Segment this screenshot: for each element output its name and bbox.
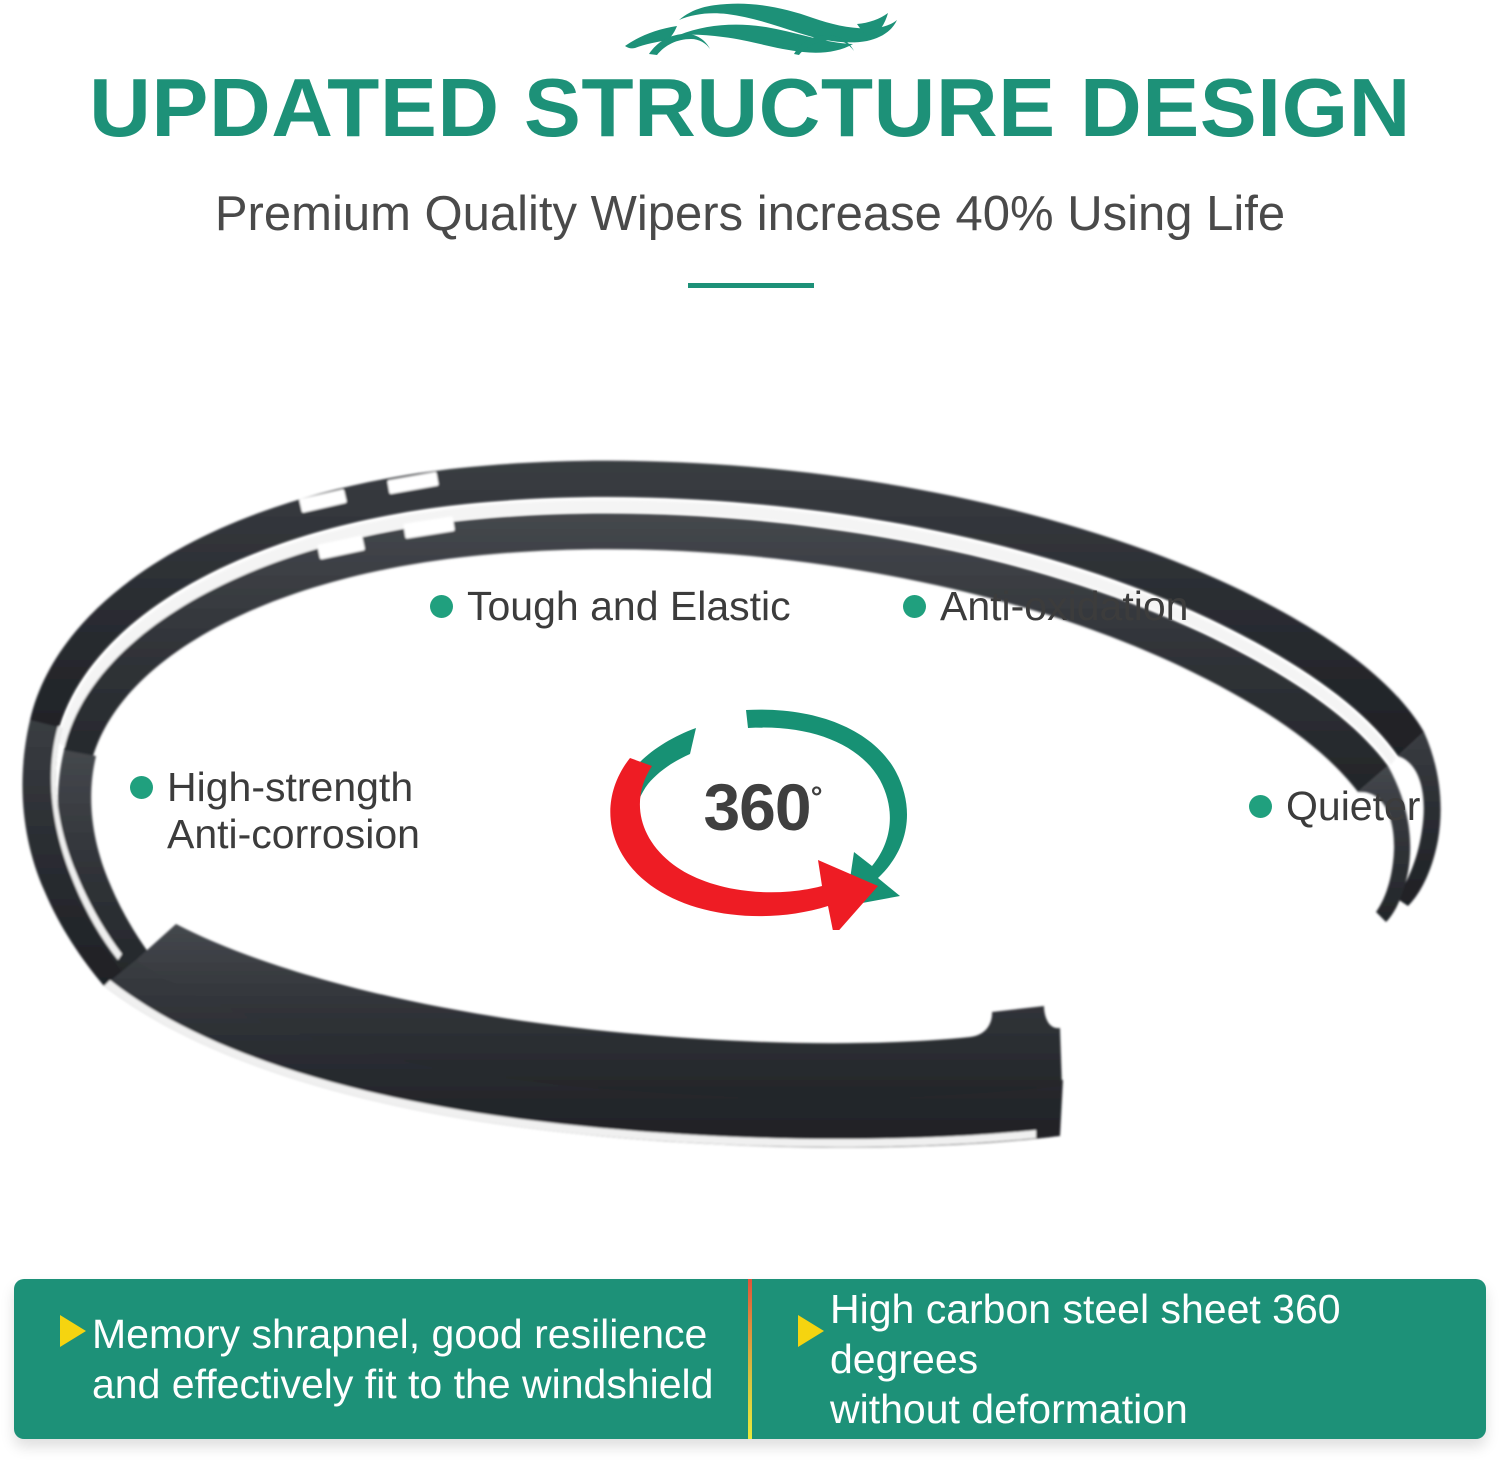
badge-value: 360 bbox=[703, 770, 810, 844]
panel-text-line2: without deformation bbox=[830, 1384, 1464, 1434]
feature-label: High-strength Anti-corrosion bbox=[167, 764, 420, 858]
bullet-dot-icon bbox=[130, 776, 153, 799]
feature-tough-and-elastic: Tough and Elastic bbox=[430, 583, 791, 630]
panel-text-line1: High carbon steel sheet 360 degrees bbox=[830, 1286, 1341, 1382]
product-infographic: UPDATED STRUCTURE DESIGN Premium Quality… bbox=[0, 0, 1500, 1475]
panel-high-carbon-steel: High carbon steel sheet 360 degrees with… bbox=[752, 1279, 1486, 1439]
feature-quieter: Quieter bbox=[1249, 783, 1420, 830]
bullet-dot-icon bbox=[903, 595, 926, 618]
panel-memory-shrapnel: Memory shrapnel, good resilience and eff… bbox=[14, 1279, 748, 1439]
badge-unit: ° bbox=[811, 781, 823, 814]
panel-text: Memory shrapnel, good resilience and eff… bbox=[92, 1309, 713, 1409]
feature-anti-oxidation: Anti-oxidation bbox=[903, 583, 1188, 630]
page-title: UPDATED STRUCTURE DESIGN bbox=[0, 62, 1500, 154]
bottom-feature-banner: Memory shrapnel, good resilience and eff… bbox=[14, 1279, 1486, 1439]
title-divider bbox=[688, 283, 814, 288]
triangle-bullet-icon bbox=[798, 1315, 824, 1347]
badge-360-text: 360° bbox=[578, 763, 948, 842]
badge-360-degrees: 360° bbox=[578, 700, 948, 930]
panel-text-line1: Memory shrapnel, good resilience bbox=[92, 1311, 707, 1357]
feature-high-strength-anti-corrosion: High-strength Anti-corrosion bbox=[130, 764, 420, 858]
feature-label: Quieter bbox=[1286, 783, 1420, 830]
bullet-dot-icon bbox=[1249, 795, 1272, 818]
feature-label: Anti-oxidation bbox=[940, 583, 1188, 630]
page-subtitle: Premium Quality Wipers increase 40% Usin… bbox=[0, 184, 1500, 244]
bullet-dot-icon bbox=[430, 595, 453, 618]
feature-label-line2: Anti-corrosion bbox=[167, 811, 420, 858]
panel-text-line2: and effectively fit to the windshield bbox=[92, 1359, 713, 1409]
feature-label: Tough and Elastic bbox=[467, 583, 791, 630]
panel-text: High carbon steel sheet 360 degrees with… bbox=[830, 1284, 1464, 1434]
feature-label-line1: High-strength bbox=[167, 764, 413, 810]
car-silhouette-icon bbox=[609, 2, 899, 60]
triangle-bullet-icon bbox=[60, 1315, 86, 1347]
